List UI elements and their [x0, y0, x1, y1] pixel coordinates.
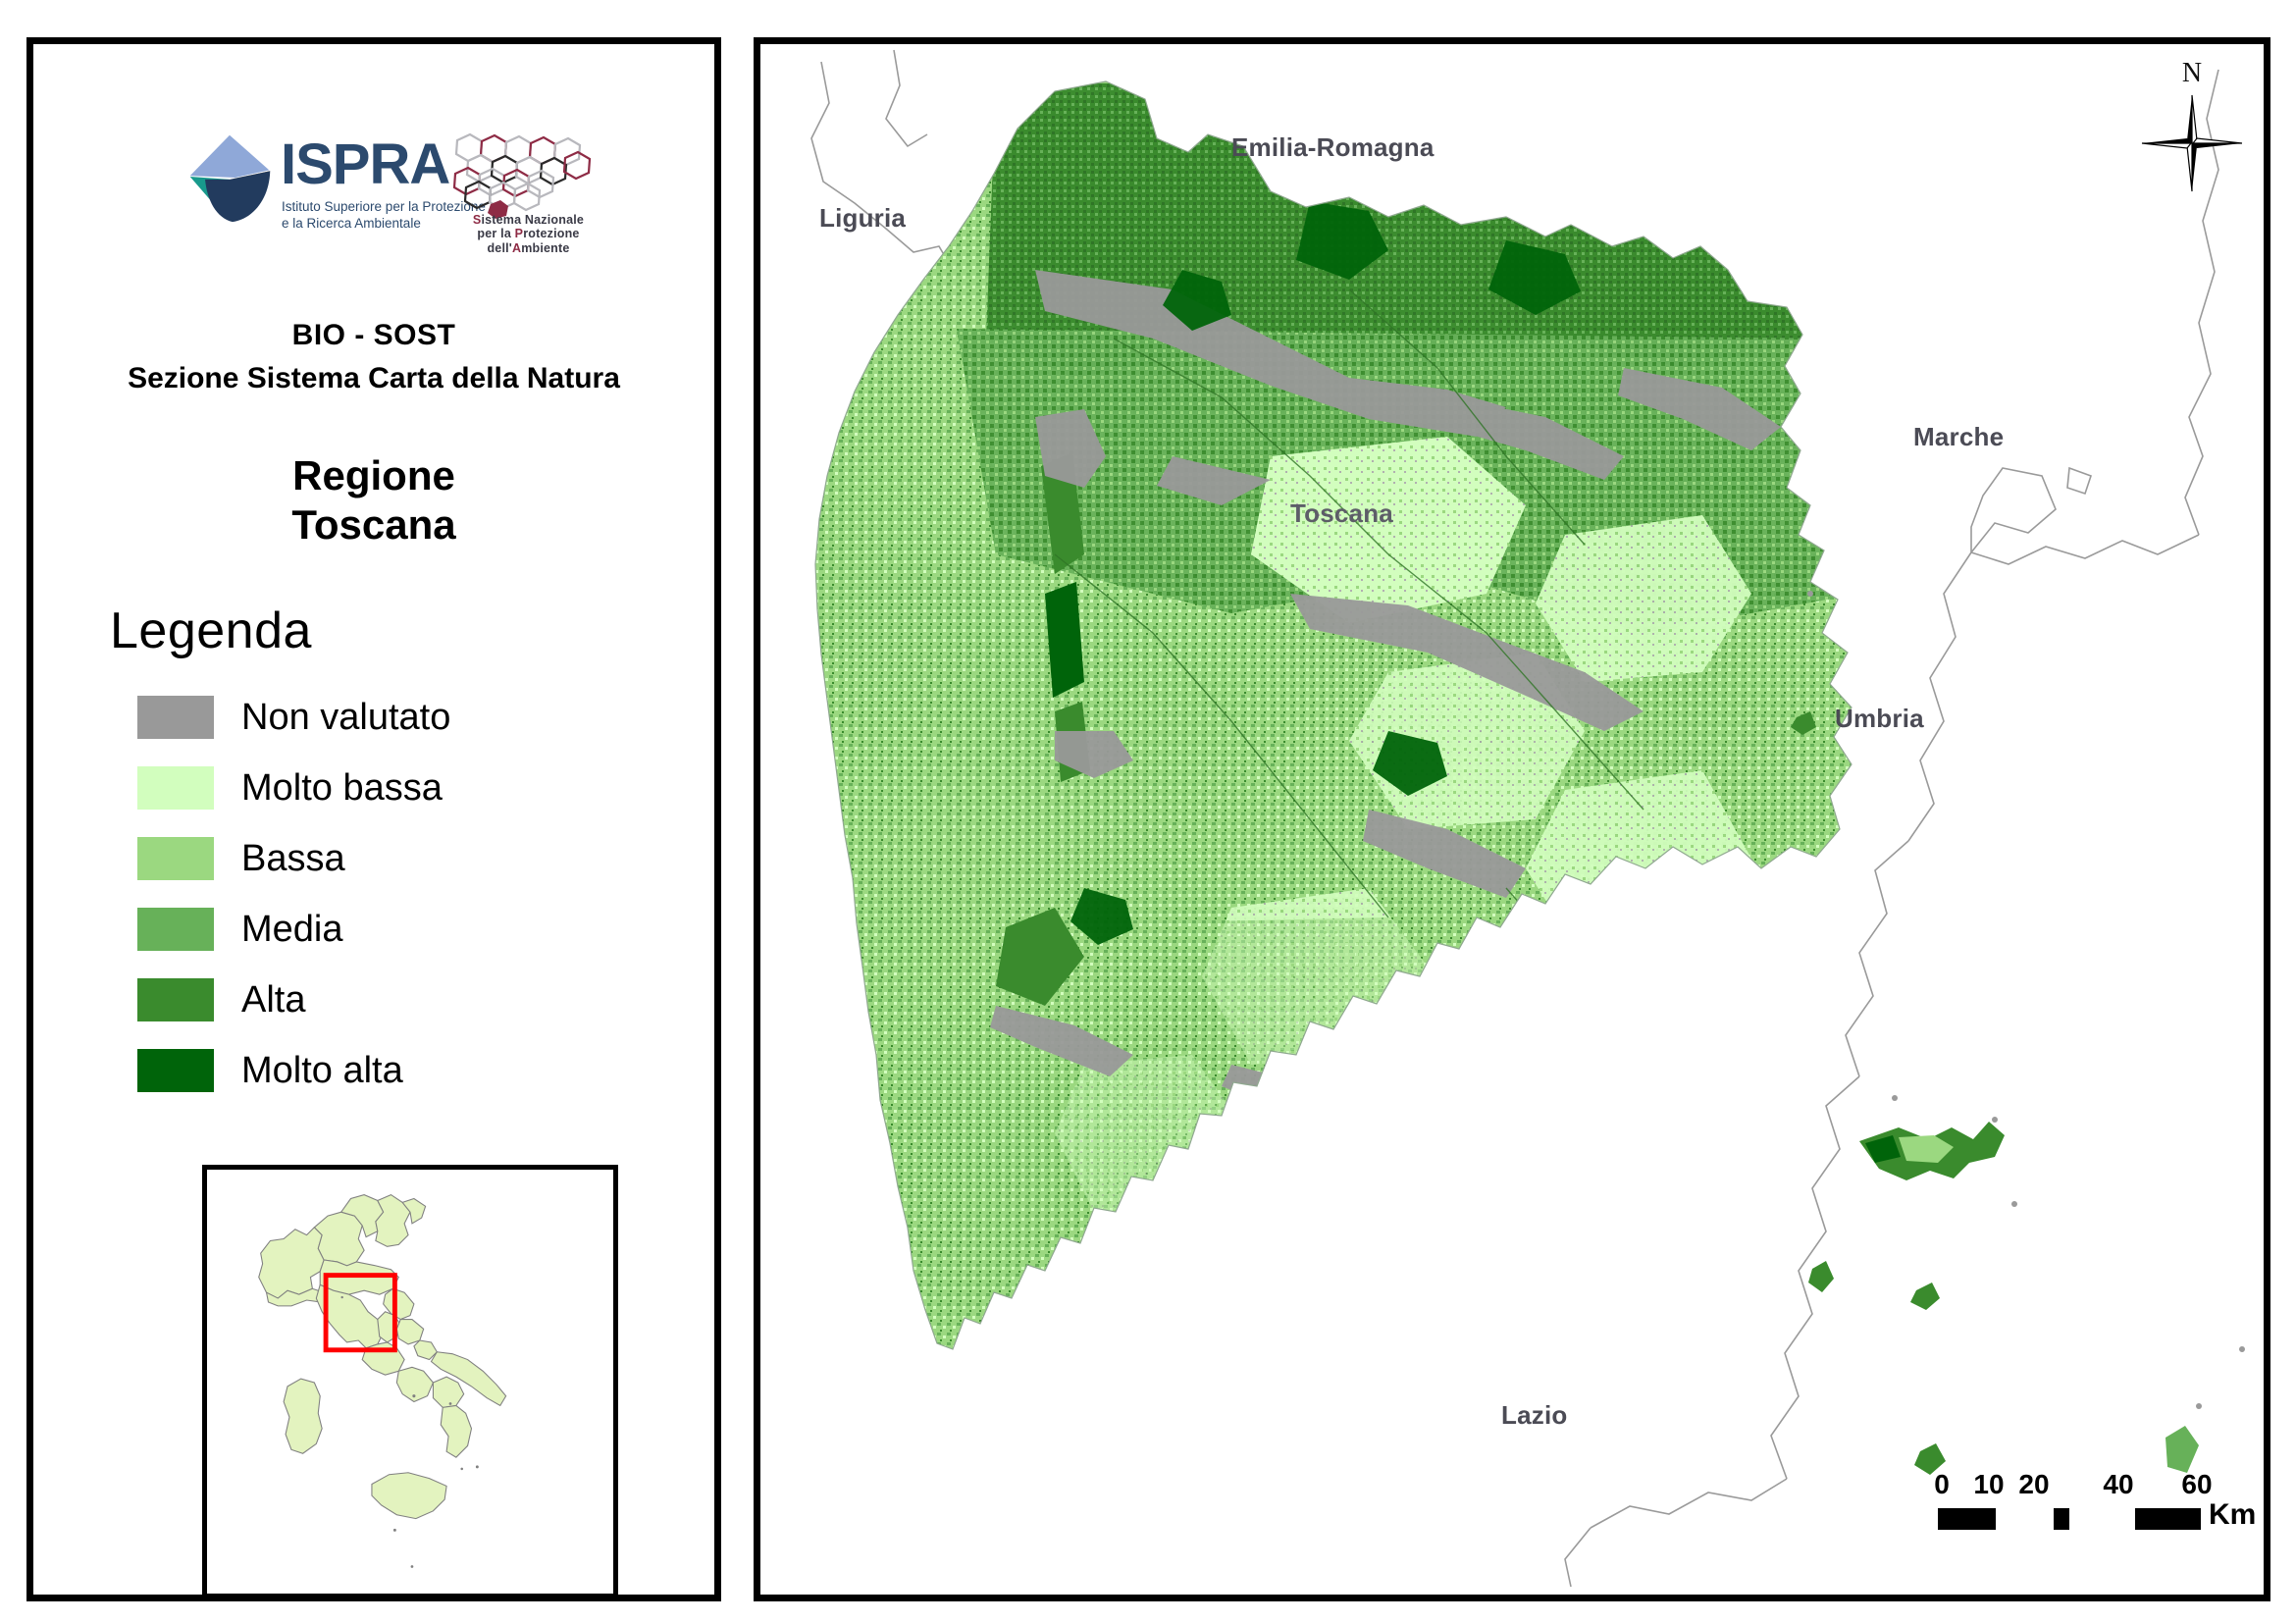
- map-label-toscana: Toscana: [1290, 498, 1393, 529]
- ispra-logo: ISPRA Istituto Superiore per la Protezio…: [183, 131, 457, 248]
- legend: Legenda Non valutato Molto bassa Bassa M…: [110, 602, 659, 1106]
- map-label-emilia-romagna: Emilia-Romagna: [1231, 132, 1435, 163]
- region-title-block: Regione Toscana: [33, 451, 714, 549]
- snpa-line-1: Sistema Nazionale: [447, 213, 609, 227]
- info-panel: ISPRA Istituto Superiore per la Protezio…: [26, 37, 721, 1601]
- legend-label-molto-bassa: Molto bassa: [241, 767, 443, 810]
- legend-item-molto-alta: Molto alta: [110, 1035, 659, 1106]
- legend-swatch-non-valutato: [137, 696, 214, 739]
- legend-swatch-molto-bassa: [137, 766, 214, 810]
- legend-label-alta: Alta: [241, 979, 305, 1021]
- snpa-logo: Sistema Nazionale per la Protezione dell…: [436, 123, 607, 260]
- legend-swatch-alta: [137, 978, 214, 1021]
- legend-label-media: Media: [241, 909, 343, 951]
- legend-item-bassa: Bassa: [110, 823, 659, 894]
- legend-item-alta: Alta: [110, 965, 659, 1035]
- tuscany-thematic-map[interactable]: [760, 44, 2264, 1595]
- logo-row: ISPRA Istituto Superiore per la Protezio…: [33, 123, 714, 260]
- map-label-marche: Marche: [1913, 422, 2004, 452]
- legend-label-non-valutato: Non valutato: [241, 697, 450, 739]
- ispra-diamond-icon: [183, 131, 277, 225]
- legend-swatch-media: [137, 908, 214, 951]
- region-title-line2: Toscana: [33, 500, 714, 550]
- north-arrow: N: [2138, 58, 2246, 195]
- project-title: BIO - SOST: [33, 319, 714, 352]
- scale-tick-20: 20: [2018, 1469, 2049, 1500]
- scale-tick-60: 60: [2181, 1469, 2212, 1500]
- legend-swatch-bassa: [137, 837, 214, 880]
- scale-bar-ticks: 0 10 20 40 60: [1938, 1469, 2201, 1502]
- main-map-panel[interactable]: Liguria Emilia-Romagna Marche Umbria Laz…: [754, 37, 2270, 1601]
- legend-item-media: Media: [110, 894, 659, 965]
- tuscany-map-svg[interactable]: [760, 44, 2264, 1595]
- section-title: Sezione Sistema Carta della Natura: [33, 362, 714, 395]
- scale-bar-graphic: [1938, 1508, 2201, 1530]
- north-arrow-letter: N: [2138, 58, 2246, 89]
- scale-tick-0: 0: [1934, 1469, 1950, 1500]
- snpa-line-2: per la Protezione: [447, 227, 609, 240]
- snpa-hexagon-network-icon: [436, 123, 607, 221]
- italy-locator-map: [202, 1165, 618, 1598]
- map-label-liguria: Liguria: [819, 203, 906, 234]
- legend-label-bassa: Bassa: [241, 838, 345, 880]
- ispra-wordmark: ISPRA: [281, 136, 449, 193]
- compass-rose-icon: [2138, 89, 2246, 197]
- map-label-umbria: Umbria: [1835, 704, 1924, 734]
- scale-tick-40: 40: [2103, 1469, 2133, 1500]
- legend-item-non-valutato: Non valutato: [110, 682, 659, 753]
- title-block: BIO - SOST Sezione Sistema Carta della N…: [33, 319, 714, 395]
- snpa-wordmark: Sistema Nazionale per la Protezione dell…: [447, 213, 609, 255]
- legend-label-molto-alta: Molto alta: [241, 1050, 403, 1092]
- snpa-line-3: dell'Ambiente: [447, 241, 609, 255]
- legend-swatch-molto-alta: [137, 1049, 214, 1092]
- scale-tick-10: 10: [1973, 1469, 2004, 1500]
- legend-item-molto-bassa: Molto bassa: [110, 753, 659, 823]
- scale-bar-unit: Km: [2209, 1498, 2256, 1532]
- map-label-lazio: Lazio: [1501, 1400, 1567, 1431]
- legend-title: Legenda: [110, 602, 659, 660]
- region-title-line1: Regione: [33, 451, 714, 500]
- italy-locator-svg: [207, 1170, 613, 1594]
- scale-bar: 0 10 20 40 60 Km: [1938, 1469, 2252, 1557]
